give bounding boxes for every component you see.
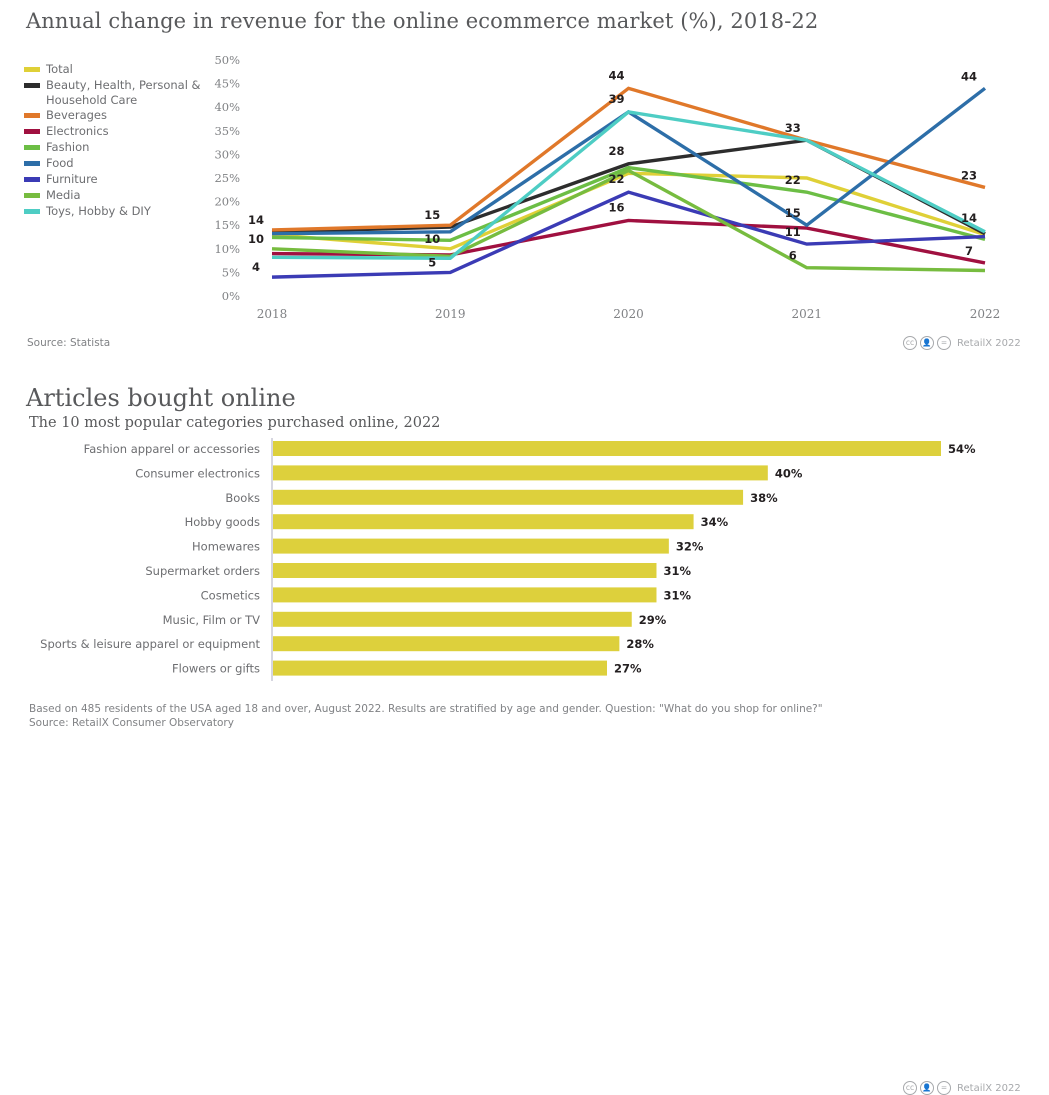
- x-axis-tick-label: 2020: [613, 307, 644, 321]
- bar-value-label: 29%: [639, 613, 667, 627]
- bar-rect[interactable]: [273, 539, 669, 554]
- bar-row[interactable]: Flowers or gifts27%: [172, 661, 642, 676]
- bar-value-label: 54%: [948, 442, 976, 456]
- data-point-label: 10: [424, 232, 440, 246]
- bar-value-label: 27%: [614, 662, 642, 676]
- bar-category-label: Supermarket orders: [145, 564, 260, 578]
- bar-rect[interactable]: [273, 514, 694, 529]
- bar-chart-title: Articles bought online: [26, 384, 296, 412]
- cc-nd-icon: =: [937, 336, 951, 350]
- bar-row[interactable]: Music, Film or TV29%: [163, 612, 667, 627]
- data-point-label: 23: [961, 168, 977, 182]
- cc-icon: cc: [903, 336, 917, 350]
- y-axis-tick-label: 35%: [214, 124, 240, 138]
- bar-value-label: 38%: [750, 491, 778, 505]
- data-point-label: 7: [965, 244, 973, 258]
- data-point-label: 10: [248, 232, 264, 246]
- line-chart-panel: Annual change in revenue for the online …: [0, 0, 1049, 365]
- y-axis-tick-label: 20%: [214, 195, 240, 209]
- data-point-label: 14: [248, 213, 264, 227]
- bar-row[interactable]: Consumer electronics40%: [135, 465, 803, 480]
- y-axis-tick-label: 40%: [214, 100, 240, 114]
- bar-category-label: Sports & leisure apparel or equipment: [40, 637, 260, 651]
- y-axis-tick-label: 45%: [214, 77, 240, 91]
- line-chart-svg: 0%5%10%15%20%25%30%35%40%45%50% 20182019…: [0, 40, 1049, 330]
- line-chart-credit: RetailX 2022: [957, 338, 1021, 349]
- bar-rect[interactable]: [273, 465, 768, 480]
- bar-chart-panel: Articles bought online The 10 most popul…: [0, 365, 1049, 738]
- line-series-path: [272, 88, 985, 230]
- data-point-label: 4: [252, 260, 260, 274]
- footnote-line-1: Based on 485 residents of the USA aged 1…: [29, 702, 823, 716]
- x-axis-tick-label: 2022: [970, 307, 1001, 321]
- data-point-label: 33: [785, 121, 801, 135]
- x-axis-tick-label: 2019: [435, 307, 466, 321]
- bar-row[interactable]: Books38%: [225, 490, 778, 505]
- footnote-line-2: Source: RetailX Consumer Observatory: [29, 716, 823, 730]
- data-point-label: 15: [424, 208, 440, 222]
- y-axis-ticks: 0%5%10%15%20%25%30%35%40%45%50%: [214, 53, 240, 303]
- bar-row[interactable]: Hobby goods34%: [185, 514, 729, 529]
- data-point-label: 28: [608, 144, 624, 158]
- bar-chart-credit: RetailX 2022: [957, 1083, 1021, 1094]
- bar-category-label: Consumer electronics: [135, 466, 260, 480]
- cc-by-icon: 👤: [920, 336, 934, 350]
- bar-rect[interactable]: [273, 612, 632, 627]
- y-axis-tick-label: 10%: [214, 242, 240, 256]
- x-axis-tick-label: 2021: [791, 307, 822, 321]
- y-axis-tick-label: 15%: [214, 218, 240, 232]
- line-chart-source: Source: Statista: [27, 337, 110, 349]
- bar-category-label: Music, Film or TV: [163, 613, 261, 627]
- line-series-path: [272, 192, 985, 277]
- cc-nd-icon: =: [937, 1081, 951, 1095]
- bar-chart-subtitle: The 10 most popular categories purchased…: [29, 415, 440, 431]
- y-axis-tick-label: 50%: [214, 53, 240, 67]
- bar-row[interactable]: Supermarket orders31%: [145, 563, 691, 578]
- bar-category-label: Flowers or gifts: [172, 662, 260, 676]
- bar-value-label: 28%: [626, 637, 654, 651]
- bar-value-label: 31%: [663, 564, 691, 578]
- bar-category-label: Fashion apparel or accessories: [84, 442, 260, 456]
- bar-chart-footnote: Based on 485 residents of the USA aged 1…: [29, 702, 823, 730]
- creative-commons-badge-bottom: cc 👤 = RetailX 2022: [903, 1081, 1021, 1095]
- line-chart-title: Annual change in revenue for the online …: [26, 9, 818, 33]
- bar-row[interactable]: Homewares32%: [192, 539, 704, 554]
- bar-value-label: 31%: [663, 588, 691, 602]
- data-point-label: 16: [608, 200, 624, 214]
- bar-value-label: 40%: [775, 466, 803, 480]
- line-series-path: [272, 112, 985, 258]
- data-point-label: 14: [961, 211, 977, 225]
- bar-row[interactable]: Sports & leisure apparel or equipment28%: [40, 636, 654, 651]
- cc-by-icon: 👤: [920, 1081, 934, 1095]
- bar-rect[interactable]: [273, 587, 656, 602]
- x-axis-ticks: 20182019202020212022: [257, 307, 1001, 321]
- bar-value-label: 32%: [676, 540, 704, 554]
- bar-rect[interactable]: [273, 636, 619, 651]
- bar-rect[interactable]: [273, 441, 941, 456]
- bar-row[interactable]: Fashion apparel or accessories54%: [84, 441, 976, 456]
- data-point-label: 22: [608, 172, 624, 186]
- bar-category-label: Books: [225, 491, 260, 505]
- y-axis-tick-label: 25%: [214, 171, 240, 185]
- data-point-label: 11: [785, 225, 801, 239]
- data-point-label: 44: [608, 68, 624, 82]
- bar-chart-svg: Fashion apparel or accessories54%Consume…: [0, 437, 1049, 692]
- y-axis-tick-label: 0%: [222, 289, 240, 303]
- bar-category-label: Cosmetics: [201, 588, 260, 602]
- bar-rect[interactable]: [273, 563, 656, 578]
- cc-icon: cc: [903, 1081, 917, 1095]
- bar-row[interactable]: Cosmetics31%: [201, 587, 692, 602]
- bar-category-label: Homewares: [192, 540, 260, 554]
- data-point-label: 15: [785, 206, 801, 220]
- y-axis-tick-label: 30%: [214, 147, 240, 161]
- bar-rows-group: Fashion apparel or accessories54%Consume…: [40, 441, 976, 676]
- data-point-label: 22: [785, 173, 801, 187]
- creative-commons-badge-top: cc 👤 = RetailX 2022: [903, 336, 1021, 350]
- data-point-label: 44: [961, 69, 977, 83]
- bar-rect[interactable]: [273, 490, 743, 505]
- bar-rect[interactable]: [273, 661, 607, 676]
- x-axis-tick-label: 2018: [257, 307, 288, 321]
- line-series-group: [272, 88, 985, 277]
- bar-value-label: 34%: [701, 515, 729, 529]
- data-point-label: 39: [608, 92, 624, 106]
- bar-category-label: Hobby goods: [185, 515, 260, 529]
- data-point-label: 5: [428, 255, 436, 269]
- data-point-label: 6: [789, 249, 797, 263]
- y-axis-tick-label: 5%: [222, 265, 240, 279]
